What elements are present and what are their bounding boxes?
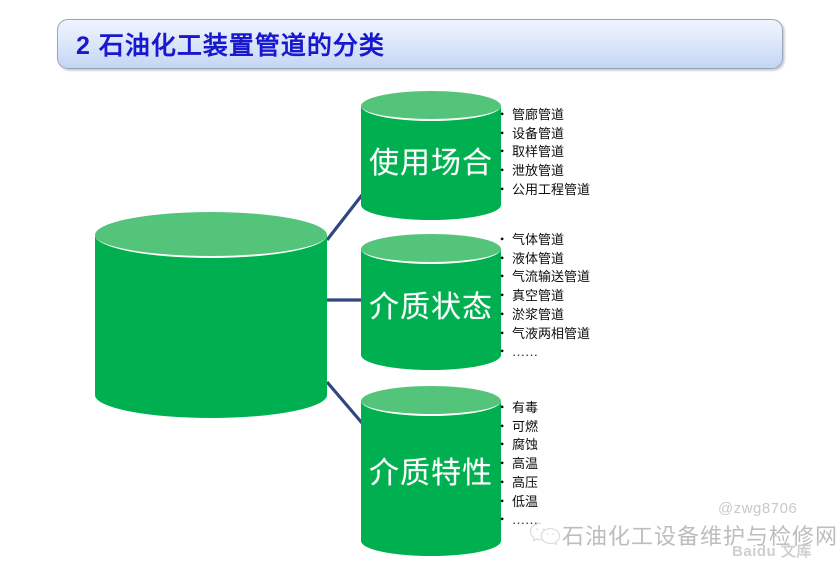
list-item: 气体管道 [500, 231, 590, 250]
list-item: 真空管道 [500, 287, 590, 306]
list-item: 高压 [500, 474, 538, 493]
list-item: 可燃 [500, 418, 538, 437]
slide-title-banner: 2 石油化工装置管道的分类 [57, 19, 783, 69]
list-item: 气液两相管道 [500, 325, 590, 344]
list-item: 公用工程管道 [500, 181, 590, 200]
bullet-list-medium-property: 有毒 可燃 腐蚀 高温 高压 低温 …… [500, 399, 538, 530]
list-item: 设备管道 [500, 125, 590, 144]
wechat-icon [528, 520, 562, 548]
connector-line-3 [327, 382, 362, 423]
main-cylinder-top [95, 212, 327, 258]
list-item: 泄放管道 [500, 162, 590, 181]
connector-line-1 [327, 195, 362, 240]
list-item: 有毒 [500, 399, 538, 418]
branch-cylinder-usage: 使用场合 [361, 91, 501, 220]
page-title: 2 石油化工装置管道的分类 [76, 26, 385, 62]
list-item: 液体管道 [500, 250, 590, 269]
watermark-handle: @zwg8706 [718, 500, 797, 517]
list-item: 气流输送管道 [500, 268, 590, 287]
branch-cylinder-top [361, 386, 501, 416]
branch-cylinder-medium-state: 介质状态 [361, 234, 501, 370]
branch-cylinder-top [361, 91, 501, 121]
list-item: 取样管道 [500, 143, 590, 162]
bullet-list-medium-state: 气体管道 液体管道 气流输送管道 真空管道 淤浆管道 气液两相管道 …… [500, 231, 590, 362]
branch-cylinder-label: 使用场合 [361, 138, 501, 182]
watermark-source: Baidu 文库 [732, 540, 812, 561]
bullet-list-usage: 管廊管道 设备管道 取样管道 泄放管道 公用工程管道 [500, 106, 590, 200]
branch-cylinder-label: 介质特性 [361, 448, 501, 492]
main-cylinder [95, 212, 327, 418]
list-item: 腐蚀 [500, 436, 538, 455]
branch-cylinder-label: 介质状态 [361, 282, 501, 326]
branch-cylinder-medium-property: 介质特性 [361, 386, 501, 556]
slide-canvas: 2 石油化工装置管道的分类 使用场合 介质状态 介质特性 管廊管道 设备管道 取 [0, 0, 839, 572]
list-item: 管廊管道 [500, 106, 590, 125]
list-item: 淤浆管道 [500, 306, 590, 325]
main-cylinder-body [95, 235, 327, 395]
list-item: 低温 [500, 493, 538, 512]
list-item: 高温 [500, 455, 538, 474]
list-item: …… [500, 343, 590, 362]
branch-cylinder-top [361, 234, 501, 264]
